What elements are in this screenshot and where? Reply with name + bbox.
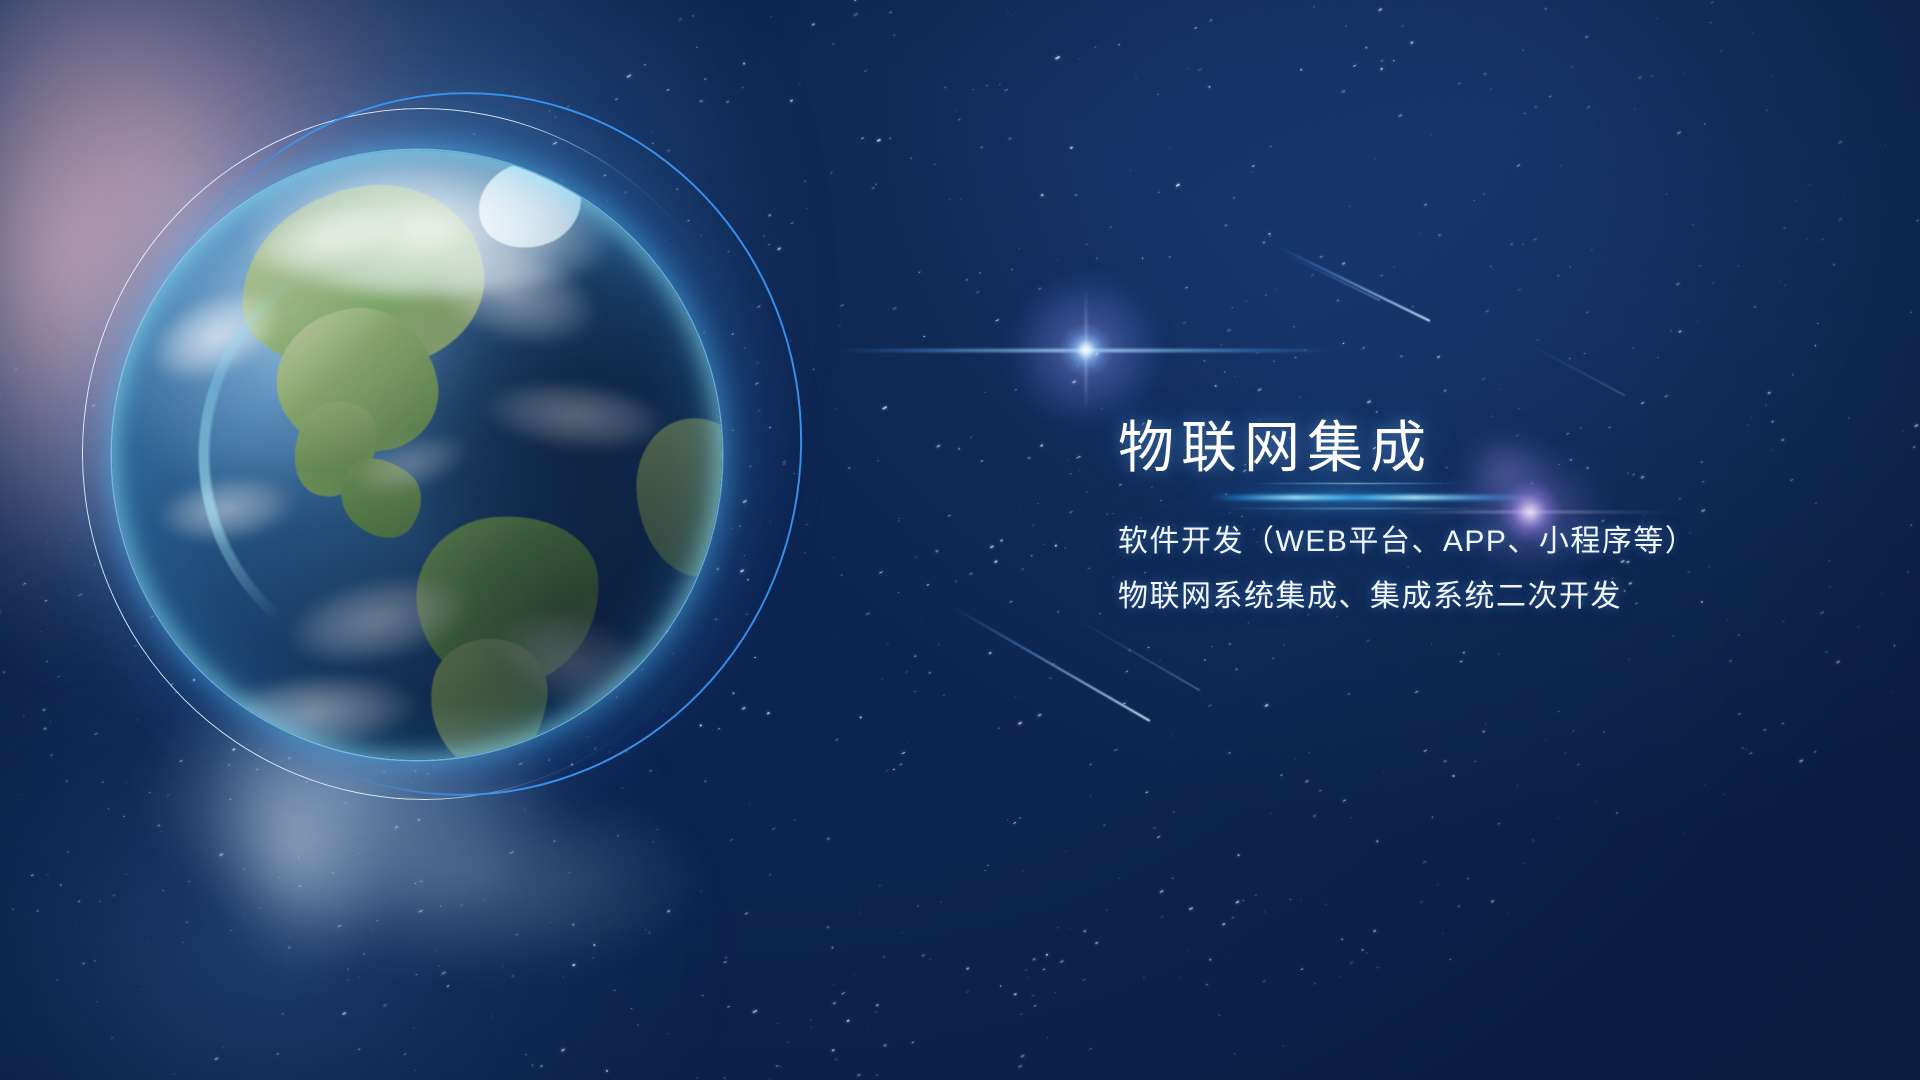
banner-stage: 物联网集成 软件开发（WEB平台、APP、小程序等） 物联网系统集成、集成系统二… [0,0,1920,1080]
banner-subline-2: 物联网系统集成、集成系统二次开发 [1118,569,1858,624]
earth-globe [112,150,722,760]
banner-headline: 物联网集成 [1118,420,1858,476]
banner-text-block: 物联网集成 软件开发（WEB平台、APP、小程序等） 物联网系统集成、集成系统二… [1118,420,1858,624]
banner-subline-group: 软件开发（WEB平台、APP、小程序等） 物联网系统集成、集成系统二次开发 [1118,514,1858,624]
banner-subline-1: 软件开发（WEB平台、APP、小程序等） [1118,514,1858,569]
globe-rim-highlight [110,148,724,762]
